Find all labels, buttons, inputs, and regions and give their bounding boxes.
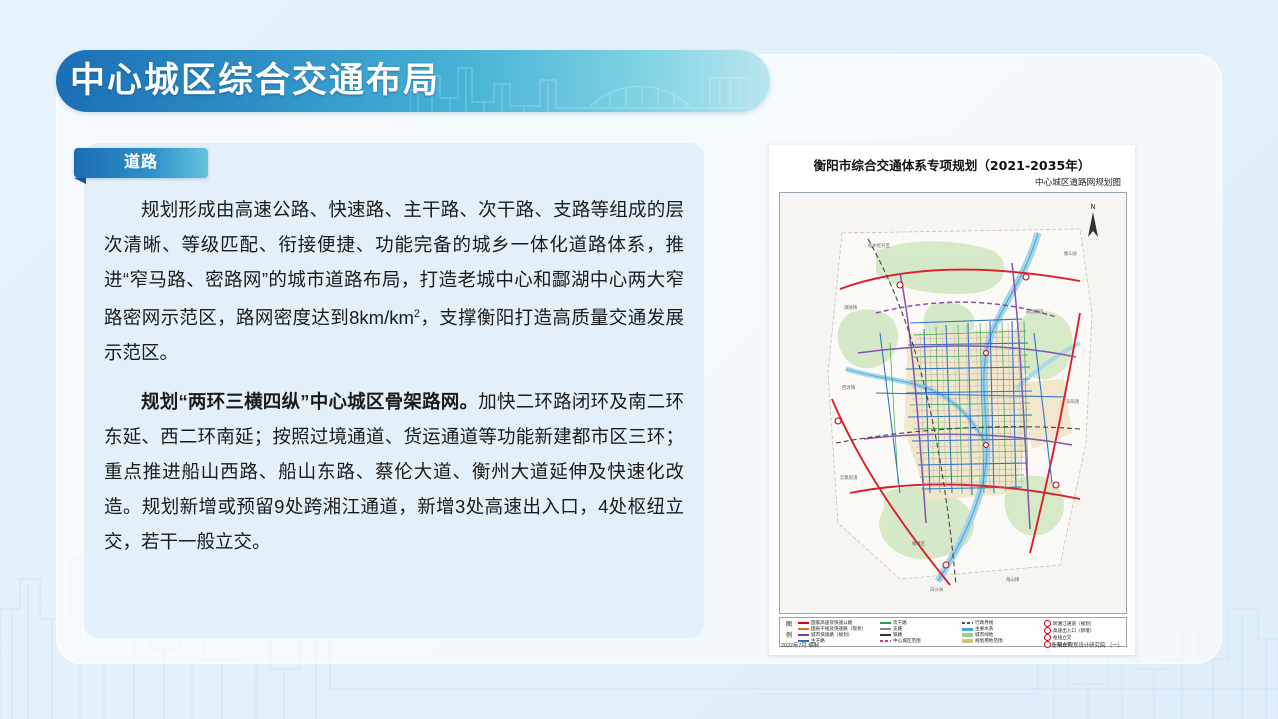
map-place-label: 松木经开区 [868,242,891,249]
legend-swatch-icon [962,639,973,643]
legend-item: 跨湘江通道（规划） [1044,620,1122,627]
legend-item-label: 枢纽立交 [1053,635,1071,641]
legend-dot-icon [1044,641,1051,648]
compass-icon: N [1076,201,1110,245]
legend-swatch-icon [798,634,809,636]
legend-swatch-icon [880,634,891,636]
legend-item: 枢纽立交 [1044,634,1122,641]
paragraph-2-rest: 加快二环路闭环及南二环东延、西二环南延；按照过境通道、货运通道等功能新建都市区三… [104,391,684,552]
paragraph-1: 规划形成由高速公路、快速路、主干路、次干路、支路等组成的层次清晰、等级匹配、衔接… [104,192,684,370]
section-tag-label: 道路 [74,148,208,178]
paragraph-2-bold-lead: 规划“两环三横四纵”中心城区骨架路网。 [141,391,478,412]
map-canvas[interactable]: 松木经开区 酃湖新区 演陂镇 西渡镇 云集街道 东阳渡 衡山县 白沙洲 角山镇 … [779,192,1127,614]
map-footer-right: 衡阳市规划设计研究院 （一） [1051,641,1123,649]
legend-swatch-icon [962,633,973,637]
legend-swatch-icon [962,622,973,624]
slide-root: 中心城区综合交通布局 道路 规划形成由高速公路、快速路、主干路、次干路、支路等组… [0,0,1278,719]
map-title: 衡阳市综合交通体系专项规划（2021-2035年） [769,155,1135,174]
section-tag: 道路 [74,148,208,178]
map-place-label: 西渡镇 [842,384,856,391]
legend-item-label: 规划用地范围 [975,638,1003,644]
legend-swatch-icon [880,628,891,630]
map-place-label: 雁峰区 [912,540,926,547]
page-title: 中心城区综合交通布局 [70,50,710,112]
legend-item: 规划用地范围 [962,638,1040,644]
map-figure[interactable]: 衡阳市综合交通体系专项规划（2021-2035年） 中心城区道路网规划图 [769,145,1135,655]
paragraph-2: 规划“两环三横四纵”中心城区骨架路网。加快二环路闭环及南二环东延、西二环南延；按… [104,384,684,559]
legend-column-3: 行政界线 主要水系 城市绿地 规划用地范围 [962,620,1040,644]
legend-swatch-icon [798,628,809,630]
body-text: 规划形成由高速公路、快速路、主干路、次干路、支路等组成的层次清晰、等级匹配、衔接… [104,192,684,573]
map-place-label: 东阳渡 [1066,398,1080,405]
map-subtitle: 中心城区道路网规划图 [1035,176,1121,188]
map-place-label: 云集街道 [840,474,858,481]
legend-item-label: 跨湘江通道（规划） [1053,621,1094,627]
legend-dot-icon [1044,620,1051,627]
map-footer-left: 2022年7月 编制 [781,641,819,649]
map-place-label: 白沙洲 [930,586,944,593]
legend-swatch-icon [880,640,891,642]
legend-swatch-icon [798,622,809,624]
map-place-label: 角山镇 [1006,576,1020,583]
map-place-label: 酃湖新区 [1026,308,1044,315]
legend-item: 高速出入口（新增） [1044,627,1122,634]
legend-swatch-icon [880,622,891,624]
map-drawing: 松木经开区 酃湖新区 演陂镇 西渡镇 云集街道 东阳渡 衡山县 白沙洲 角山镇 … [780,193,1126,613]
legend-column-2: 次干路 支路 铁路 中心城区范围 [880,620,958,644]
legend-item-label: 中心城区范围 [893,638,921,644]
legend-title: 图例 [783,620,795,642]
legend-item: 中心城区范围 [880,638,958,644]
svg-text:N: N [1090,203,1095,211]
map-place-label: 衡山县 [1064,250,1078,257]
legend-dot-icon [1044,627,1051,634]
legend-item-label: 高速出入口（新增） [1053,628,1094,634]
legend-swatch-icon [962,628,973,631]
map-place-label: 演陂镇 [844,304,858,311]
legend-dot-icon [1044,634,1051,641]
